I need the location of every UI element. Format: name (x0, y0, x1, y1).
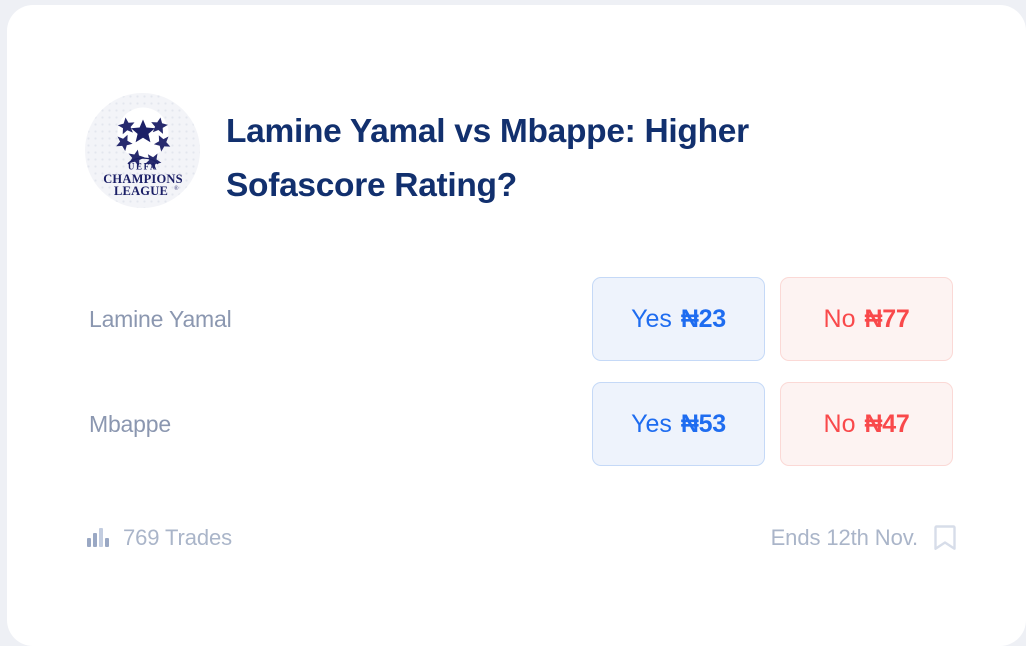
card-footer: 769 Trades Ends 12th Nov. (85, 523, 958, 553)
no-label: No (824, 305, 856, 334)
league-logo-badge: UEFA CHAMPIONS LEAGUE ® (85, 93, 200, 208)
yes-price: ₦23 (681, 305, 726, 334)
no-price: ₦47 (865, 410, 910, 439)
no-label: No (824, 410, 856, 439)
end-date-info: Ends 12th Nov. (771, 523, 958, 553)
outcome-buttons: Yes ₦23 No ₦77 (592, 277, 953, 361)
buy-yes-button-lamine-yamal[interactable]: Yes ₦23 (592, 277, 765, 361)
trades-info: 769 Trades (85, 525, 232, 551)
outcome-name-lamine-yamal: Lamine Yamal (89, 306, 232, 333)
outcome-row: Mbappe Yes ₦53 No ₦47 (89, 382, 953, 466)
logo-uefa-text: UEFA (127, 161, 157, 171)
outcome-buttons: Yes ₦53 No ₦47 (592, 382, 953, 466)
yes-price: ₦53 (681, 410, 726, 439)
yes-label: Yes (631, 410, 672, 439)
bookmark-icon[interactable] (932, 523, 958, 553)
end-date-label: Ends 12th Nov. (771, 525, 918, 551)
outcomes-list: Lamine Yamal Yes ₦23 No ₦77 Mbappe Yes ₦… (89, 277, 953, 487)
logo-league-text: LEAGUE (114, 184, 168, 198)
uefa-champions-league-logo-icon: UEFA CHAMPIONS LEAGUE ® (95, 103, 191, 199)
buy-no-button-lamine-yamal[interactable]: No ₦77 (780, 277, 953, 361)
outcome-row: Lamine Yamal Yes ₦23 No ₦77 (89, 277, 953, 361)
card-header: UEFA CHAMPIONS LEAGUE ® Lamine Yamal vs … (85, 93, 945, 213)
bar-chart-icon (85, 525, 111, 551)
no-price: ₦77 (865, 305, 910, 334)
market-card[interactable]: UEFA CHAMPIONS LEAGUE ® Lamine Yamal vs … (7, 5, 1026, 646)
logo-registered-mark: ® (174, 185, 179, 192)
outcome-name-mbappe: Mbappe (89, 411, 171, 438)
buy-yes-button-mbappe[interactable]: Yes ₦53 (592, 382, 765, 466)
trades-count-label: 769 Trades (123, 525, 232, 551)
yes-label: Yes (631, 305, 672, 334)
market-title: Lamine Yamal vs Mbappe: Higher Sofascore… (226, 105, 846, 213)
buy-no-button-mbappe[interactable]: No ₦47 (780, 382, 953, 466)
